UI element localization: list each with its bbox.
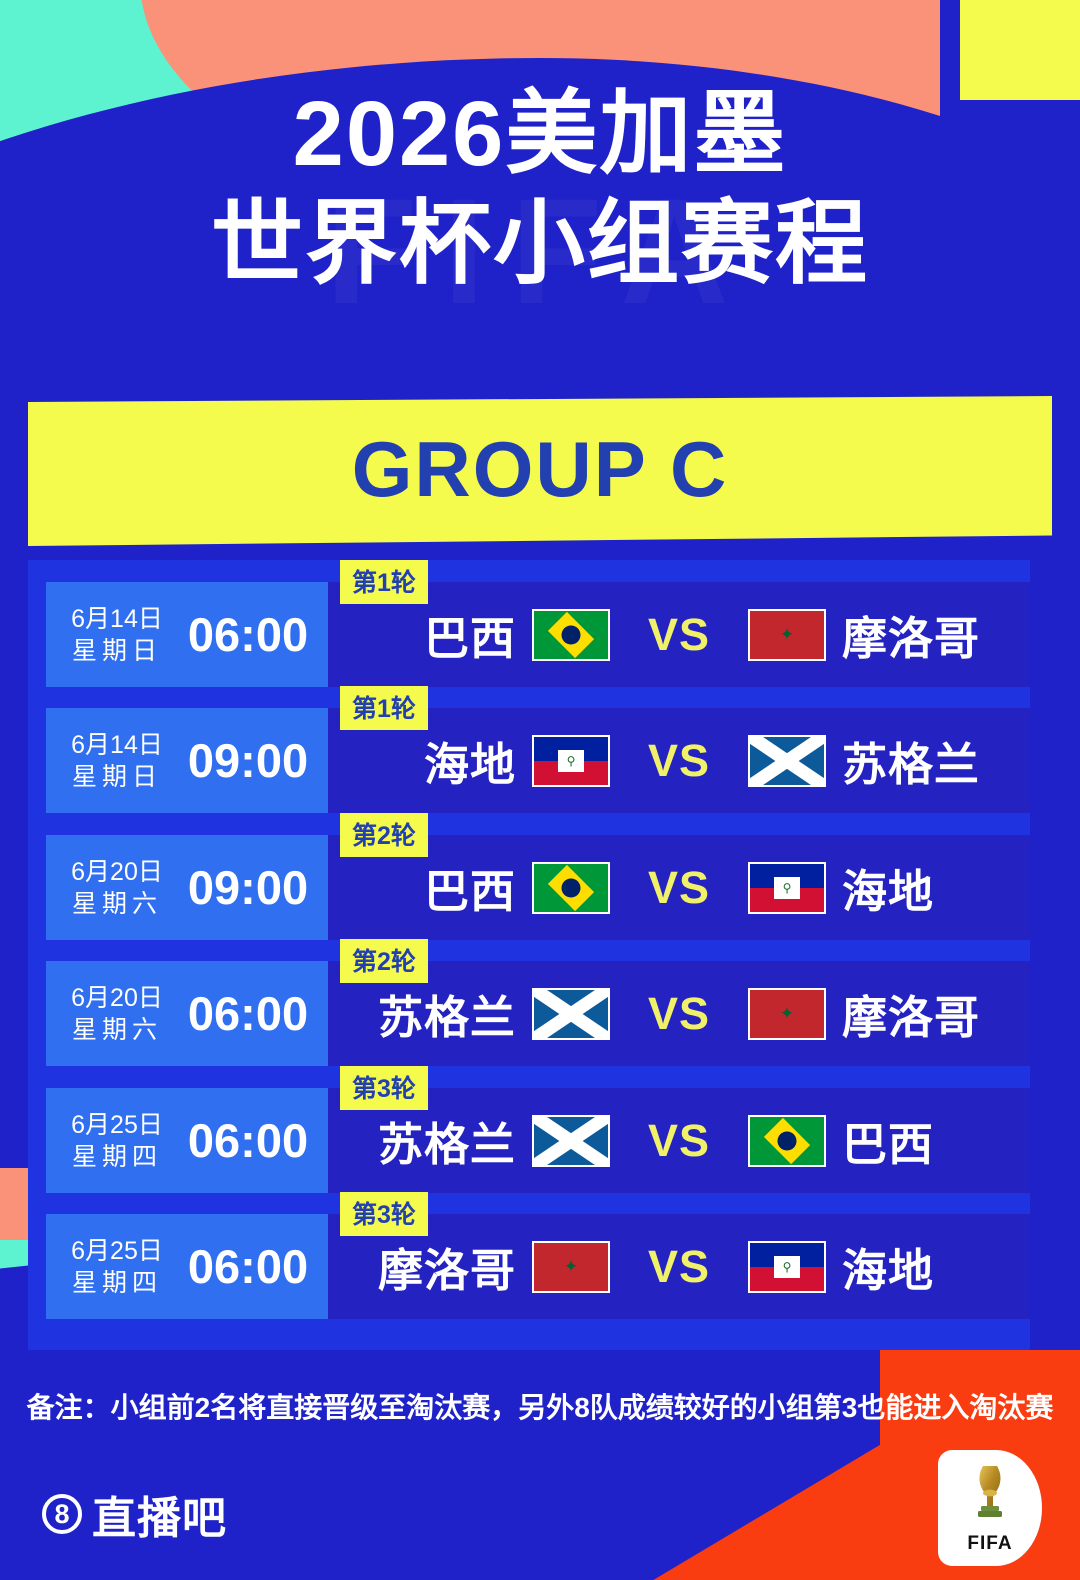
versus-label: VS: [648, 609, 710, 661]
scotland-flag-icon: [532, 988, 610, 1040]
versus-label: VS: [648, 988, 710, 1040]
match-weekday: 星期日: [60, 635, 174, 667]
away-team-name: 巴西: [842, 1108, 1012, 1173]
title-line-2: 世界杯小组赛程: [0, 190, 1080, 299]
home-team-name: 苏格兰: [346, 981, 516, 1046]
brazil-flag-icon: [532, 862, 610, 914]
match-time: 09:00: [174, 733, 328, 788]
match-date-block: 6月14日 星期日: [46, 603, 174, 667]
match-date: 6月20日: [60, 982, 174, 1014]
round-badge: 第1轮: [340, 686, 428, 730]
poster-root: FIFA 2026美加墨 世界杯小组赛程 GROUP C 第1轮 6月14日 星…: [0, 0, 1080, 1580]
fifa-2026-logo: FIFA: [938, 1450, 1042, 1566]
match-datetime: 6月25日 星期四 06:00: [46, 1088, 328, 1193]
round-badge: 第2轮: [340, 813, 428, 857]
match-date-block: 6月25日 星期四: [46, 1235, 174, 1299]
brazil-flag-icon: [532, 609, 610, 661]
match-date: 6月14日: [60, 603, 174, 635]
match-datetime: 6月14日 星期日 06:00: [46, 582, 328, 687]
match-date: 6月14日: [60, 729, 174, 761]
match-date: 6月25日: [60, 1235, 174, 1267]
round-badge: 第3轮: [340, 1192, 428, 1236]
match-row[interactable]: 第1轮 6月14日 星期日 06:00 巴西 VS ✦ 摩洛哥: [28, 582, 1030, 687]
match-date-block: 6月25日 星期四: [46, 1109, 174, 1173]
match-fixture: 巴西 VS ⚲ 海地: [328, 835, 1030, 940]
haiti-flag-icon: ⚲: [532, 735, 610, 787]
match-fixture: 海地 ⚲ VS 苏格兰: [328, 708, 1030, 813]
match-date-block: 6月20日 星期六: [46, 982, 174, 1046]
away-team-name: 海地: [842, 855, 1012, 920]
world-cup-trophy-icon: [970, 1462, 1010, 1524]
match-weekday: 星期六: [60, 888, 174, 920]
brand-name: 直播吧: [92, 1482, 227, 1546]
group-banner-label: GROUP C: [352, 424, 729, 515]
match-time: 06:00: [174, 1113, 328, 1168]
match-fixture: 巴西 VS ✦ 摩洛哥: [328, 582, 1030, 687]
match-date: 6月25日: [60, 1109, 174, 1141]
scotland-flag-icon: [748, 735, 826, 787]
away-team-name: 摩洛哥: [842, 981, 1012, 1046]
versus-label: VS: [648, 735, 710, 787]
home-team-name: 巴西: [346, 602, 516, 667]
round-badge: 第2轮: [340, 939, 428, 983]
round-badge: 第1轮: [340, 560, 428, 604]
match-time: 06:00: [174, 607, 328, 662]
round-badge: 第3轮: [340, 1066, 428, 1110]
brand-logo[interactable]: 8 直播吧: [42, 1482, 227, 1546]
footer-note: 备注：小组前2名将直接晋级至淘汰赛，另外8队成绩较好的小组第3也能进入淘汰赛: [0, 1386, 1080, 1426]
brand-mark-icon: 8: [42, 1494, 82, 1534]
match-row[interactable]: 第3轮 6月25日 星期四 06:00 苏格兰 VS 巴西: [28, 1088, 1030, 1193]
match-weekday: 星期六: [60, 1014, 174, 1046]
match-datetime: 6月14日 星期日 09:00: [46, 708, 328, 813]
match-date-block: 6月14日 星期日: [46, 729, 174, 793]
brazil-flag-icon: [748, 1115, 826, 1167]
schedule-panel: 第1轮 6月14日 星期日 06:00 巴西 VS ✦ 摩洛哥 第1轮 6: [28, 560, 1030, 1350]
match-row[interactable]: 第3轮 6月25日 星期四 06:00 摩洛哥 ✦ VS ⚲ 海地: [28, 1214, 1030, 1319]
match-time: 06:00: [174, 1239, 328, 1294]
home-team-name: 摩洛哥: [346, 1234, 516, 1299]
scotland-flag-icon: [532, 1115, 610, 1167]
match-date: 6月20日: [60, 856, 174, 888]
away-team-name: 苏格兰: [842, 728, 1012, 793]
match-weekday: 星期四: [60, 1141, 174, 1173]
group-banner: GROUP C: [28, 396, 1052, 546]
match-time: 06:00: [174, 986, 328, 1041]
away-team-name: 海地: [842, 1234, 1012, 1299]
versus-label: VS: [648, 1241, 710, 1293]
match-weekday: 星期日: [60, 761, 174, 793]
versus-label: VS: [648, 1115, 710, 1167]
away-team-name: 摩洛哥: [842, 602, 1012, 667]
home-team-name: 巴西: [346, 855, 516, 920]
match-row[interactable]: 第1轮 6月14日 星期日 09:00 海地 ⚲ VS 苏格兰: [28, 708, 1030, 813]
match-datetime: 6月25日 星期四 06:00: [46, 1214, 328, 1319]
home-team-name: 海地: [346, 728, 516, 793]
match-datetime: 6月20日 星期六 09:00: [46, 835, 328, 940]
morocco-flag-icon: ✦: [532, 1241, 610, 1293]
title-line-1: 2026美加墨: [0, 85, 1080, 184]
haiti-flag-icon: ⚲: [748, 862, 826, 914]
morocco-flag-icon: ✦: [748, 609, 826, 661]
match-row[interactable]: 第2轮 6月20日 星期六 09:00 巴西 VS ⚲ 海地: [28, 835, 1030, 940]
haiti-flag-icon: ⚲: [748, 1241, 826, 1293]
home-team-name: 苏格兰: [346, 1108, 516, 1173]
match-weekday: 星期四: [60, 1267, 174, 1299]
match-fixture: 苏格兰 VS 巴西: [328, 1088, 1030, 1193]
versus-label: VS: [648, 862, 710, 914]
poster-title: 2026美加墨 世界杯小组赛程: [0, 85, 1080, 299]
match-datetime: 6月20日 星期六 06:00: [46, 961, 328, 1066]
match-row[interactable]: 第2轮 6月20日 星期六 06:00 苏格兰 VS ✦ 摩洛哥: [28, 961, 1030, 1066]
morocco-flag-icon: ✦: [748, 988, 826, 1040]
match-time: 09:00: [174, 860, 328, 915]
match-date-block: 6月20日 星期六: [46, 856, 174, 920]
match-fixture: 摩洛哥 ✦ VS ⚲ 海地: [328, 1214, 1030, 1319]
match-fixture: 苏格兰 VS ✦ 摩洛哥: [328, 961, 1030, 1066]
fifa-label: FIFA: [967, 1533, 1012, 1555]
